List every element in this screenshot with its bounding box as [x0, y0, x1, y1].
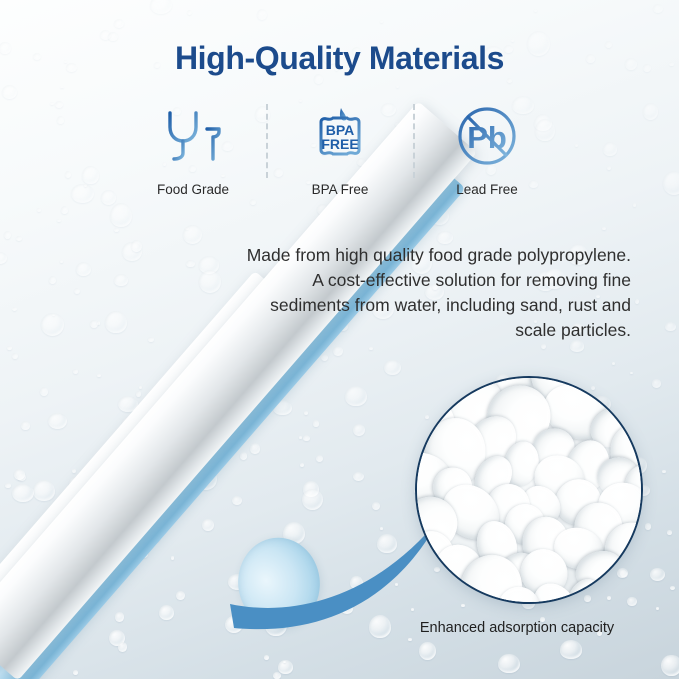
water-droplet: [40, 387, 49, 396]
water-droplet: [534, 9, 537, 12]
water-droplet: [159, 605, 174, 620]
water-droplet: [50, 102, 54, 105]
water-droplet: [345, 386, 367, 407]
water-droplet: [110, 203, 132, 228]
water-droplet: [0, 252, 7, 264]
water-droplet: [90, 320, 98, 328]
water-droplet: [97, 321, 101, 325]
water-droplet: [16, 236, 22, 241]
body-line-1: Made from high quality food grade polypr…: [171, 243, 631, 268]
water-droplet: [602, 227, 605, 230]
water-droplet: [630, 372, 633, 375]
food-grade-glass-fork-icon: [162, 100, 224, 172]
body-line-3: sediments from water, including sand, ru…: [171, 293, 631, 318]
magnified-pellet-inset: [415, 376, 643, 604]
water-droplet: [14, 469, 25, 480]
water-droplet: [118, 642, 127, 652]
inset-caption: Enhanced adsorption capacity: [392, 620, 642, 636]
badge-label-bpa-free: BPA Free: [312, 182, 369, 197]
water-droplet: [607, 166, 611, 170]
water-droplet: [257, 9, 267, 20]
water-droplet: [380, 20, 383, 23]
water-droplet: [7, 346, 12, 351]
water-droplet: [633, 203, 636, 206]
water-droplet: [575, 144, 578, 147]
water-droplet: [101, 190, 117, 205]
water-droplet: [150, 0, 172, 14]
water-droplet: [82, 166, 98, 183]
water-droplet: [313, 420, 320, 427]
water-droplet: [100, 30, 112, 41]
water-droplet: [635, 299, 639, 304]
water-droplet: [202, 519, 214, 532]
water-droplet: [49, 276, 56, 284]
water-droplet: [176, 591, 185, 600]
water-droplet: [283, 661, 286, 664]
water-droplet: [97, 374, 100, 377]
water-droplet: [17, 473, 26, 481]
water-droplet: [299, 436, 302, 439]
water-droplet: [273, 672, 281, 679]
water-droplet: [408, 638, 412, 641]
water-droplet: [37, 208, 41, 212]
water-droplet: [55, 101, 63, 108]
water-droplet: [41, 313, 64, 336]
water-droplet: [48, 413, 68, 429]
water-droplet: [115, 612, 124, 622]
water-droplet: [656, 607, 659, 610]
water-droplet: [139, 386, 142, 389]
water-droplet: [653, 4, 663, 13]
water-droplet: [662, 470, 666, 473]
water-droplet: [665, 322, 676, 331]
water-droplet: [4, 231, 11, 239]
water-droplet: [278, 660, 294, 674]
water-droplet: [264, 655, 269, 660]
water-droplet: [603, 142, 617, 156]
water-droplet: [183, 225, 202, 244]
badge-divider-1: [266, 104, 268, 178]
water-droplet: [57, 219, 61, 222]
body-line-2: A cost-effective solution for removing f…: [171, 268, 631, 293]
water-droplet: [57, 116, 65, 123]
water-droplet: [560, 640, 582, 658]
water-droplet: [395, 583, 399, 586]
water-droplet: [5, 483, 10, 488]
water-droplet: [60, 86, 63, 89]
water-droplet: [61, 206, 68, 213]
water-droplet: [316, 455, 323, 462]
lead-free-pb-prohibited-icon: Pb: [455, 100, 519, 172]
water-droplet: [645, 523, 651, 529]
water-droplet: [250, 443, 261, 454]
badge-food-grade: Food Grade: [128, 100, 258, 197]
water-droplet: [661, 655, 679, 676]
water-droplet: [60, 260, 63, 263]
water-droplet: [384, 360, 401, 375]
water-droplet: [372, 502, 381, 510]
water-droplet: [461, 604, 464, 607]
water-droplet: [667, 530, 672, 536]
water-droplet: [114, 228, 119, 232]
water-droplet: [232, 496, 242, 505]
water-droplet: [350, 576, 363, 589]
water-droplet: [612, 362, 615, 365]
water-droplet: [303, 435, 310, 441]
bpa-icon-text-line2: FREE: [321, 136, 358, 152]
water-droplet: [74, 288, 80, 294]
water-droplet: [122, 242, 141, 261]
water-droplet: [73, 670, 78, 675]
water-droplet: [171, 556, 174, 559]
water-droplet: [148, 337, 154, 342]
water-droplet: [302, 489, 323, 510]
water-droplet: [541, 344, 546, 349]
body-line-4: scale particles.: [171, 318, 631, 343]
water-droplet: [607, 596, 611, 600]
water-droplet: [304, 411, 308, 415]
water-droplet: [114, 19, 124, 28]
water-droplet: [321, 354, 328, 361]
badge-lead-free: Pb Lead Free: [422, 100, 552, 197]
water-droplet: [652, 379, 661, 388]
water-droplet: [114, 274, 128, 286]
water-droplet: [187, 10, 192, 15]
water-droplet: [131, 240, 142, 252]
water-droplet: [670, 586, 675, 590]
water-droplet: [52, 314, 55, 316]
water-droplet: [185, 227, 188, 230]
water-droplet: [650, 568, 665, 581]
water-droplet: [627, 597, 636, 606]
water-droplet: [341, 604, 353, 614]
water-droplet: [12, 353, 18, 360]
badge-label-food-grade: Food Grade: [157, 182, 229, 197]
product-infographic: High-Quality Materials: [0, 0, 679, 679]
water-droplet: [109, 630, 125, 646]
water-droplet: [380, 527, 383, 530]
water-droplet: [225, 616, 243, 633]
water-droplet: [300, 463, 304, 467]
badge-label-lead-free: Lead Free: [456, 182, 518, 197]
water-droplet: [419, 642, 436, 660]
water-droplet: [33, 480, 55, 501]
water-droplet: [369, 347, 372, 350]
water-droplet: [321, 604, 327, 609]
water-droplet: [84, 184, 87, 187]
water-droplet: [353, 424, 365, 436]
water-droplet: [136, 391, 142, 396]
water-droplet: [333, 346, 343, 356]
water-droplet: [396, 85, 399, 88]
water-droplet: [12, 484, 33, 502]
water-droplet: [369, 615, 391, 638]
water-droplet: [76, 262, 91, 276]
water-droplet: [65, 171, 71, 178]
bpa-free-badge-icon: BPA FREE: [309, 100, 371, 172]
water-droplet: [377, 534, 397, 553]
certification-badge-row: Food Grade BPA FREE BPA F: [128, 100, 552, 197]
water-droplet: [71, 184, 94, 203]
water-droplet: [498, 654, 520, 673]
water-droplet: [73, 369, 78, 374]
water-droplet: [507, 78, 512, 83]
body-description: Made from high quality food grade polypr…: [171, 243, 631, 343]
water-droplet: [663, 171, 679, 195]
water-droplet: [643, 103, 659, 120]
water-droplet: [105, 311, 127, 334]
water-droplet: [303, 481, 319, 496]
water-droplet: [12, 307, 17, 311]
page-title: High-Quality Materials: [0, 40, 679, 77]
cartridge-end-cap: [222, 519, 337, 646]
water-droplet: [250, 199, 256, 205]
badge-divider-2: [413, 104, 415, 178]
water-droplet: [72, 469, 76, 473]
water-droplet: [353, 472, 364, 481]
water-droplet: [411, 608, 414, 611]
water-droplet: [21, 421, 30, 430]
badge-bpa-free: BPA FREE BPA Free: [275, 100, 405, 197]
water-droplet: [2, 85, 17, 99]
water-droplet: [240, 452, 248, 459]
